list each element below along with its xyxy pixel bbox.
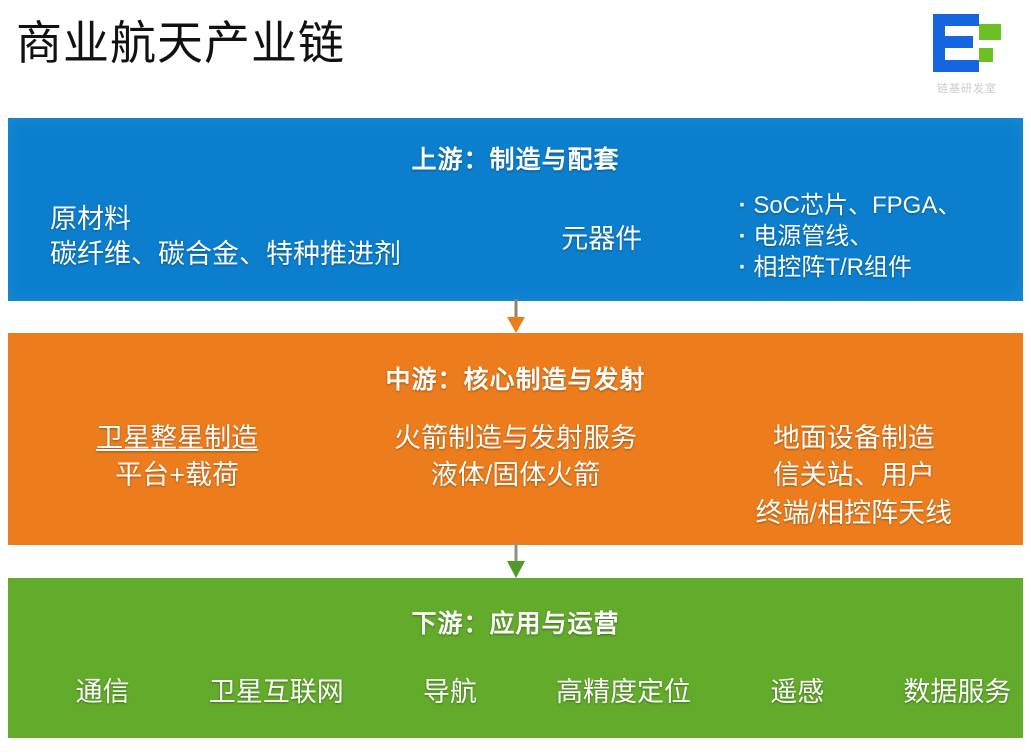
downstream-item-high-precision-positioning: 高精度定位	[556, 670, 691, 709]
logo-caption: 链基研发室	[921, 80, 1013, 96]
midstream-column-satellite: 卫星整星制造 平台+载荷	[8, 420, 346, 495]
band-downstream: 下游：应用与运营 通信 卫星互联网 导航 高精度定位 遥感 数据服务	[8, 578, 1023, 738]
downstream-item-communication: 通信	[76, 670, 130, 709]
band-upstream: 上游：制造与配套 原材料 碳纤维、碳合金、特种推进剂 元器件 SoC芯片、FPG…	[8, 118, 1023, 301]
down-arrow-icon	[501, 299, 531, 335]
upstream-column-components: 元器件	[475, 217, 729, 256]
band-upstream-title: 上游：制造与配套	[8, 140, 1023, 176]
band-downstream-title: 下游：应用与运营	[8, 604, 1023, 640]
midstream-satellite-line-1: 平台+载荷	[14, 457, 340, 494]
upstream-column-materials: 原材料 碳纤维、碳合金、特种推进剂	[8, 202, 475, 271]
upstream-materials-heading: 原材料	[50, 202, 475, 237]
downstream-item-satellite-internet: 卫星互联网	[209, 670, 344, 709]
midstream-satellite-heading: 卫星整星制造	[14, 420, 340, 457]
downstream-item-data-service: 数据服务	[903, 670, 1011, 709]
page-header: 商业航天产业链 链基研发室	[0, 0, 1031, 118]
midstream-ground-line-2: 终端/相控阵天线	[691, 495, 1017, 532]
down-arrow-icon	[501, 543, 531, 580]
band-midstream: 中游：核心制造与发射 卫星整星制造 平台+载荷 火箭制造与发射服务 液体/固体火…	[8, 333, 1023, 545]
page-title: 商业航天产业链	[16, 19, 345, 67]
midstream-rocket-line-1: 液体/固体火箭	[352, 457, 678, 494]
midstream-column-rocket: 火箭制造与发射服务 液体/固体火箭	[346, 420, 684, 495]
arrow-midstream-to-downstream	[0, 543, 1031, 580]
band-midstream-columns: 卫星整星制造 平台+载荷 火箭制造与发射服务 液体/固体火箭 地面设备制造 信关…	[8, 420, 1023, 532]
arrow-upstream-to-midstream	[0, 299, 1031, 335]
logo-mark-icon	[915, 8, 1019, 82]
upstream-chips-bullet-2: 电源管线、	[739, 221, 1023, 252]
upstream-column-chips: SoC芯片、FPGA、 电源管线、 相控阵T/R组件	[729, 190, 1023, 284]
midstream-column-ground: 地面设备制造 信关站、用户 终端/相控阵天线	[685, 420, 1023, 532]
midstream-ground-line-1: 信关站、用户	[691, 457, 1017, 494]
brand-logo: 链基研发室	[915, 8, 1019, 104]
midstream-ground-heading: 地面设备制造	[691, 420, 1017, 457]
band-upstream-columns: 原材料 碳纤维、碳合金、特种推进剂 元器件 SoC芯片、FPGA、 电源管线、 …	[8, 190, 1023, 284]
upstream-components-heading: 元器件	[475, 217, 729, 256]
downstream-item-navigation: 导航	[423, 670, 477, 709]
upstream-chips-bullet-3: 相控阵T/R组件	[739, 252, 1023, 283]
downstream-item-remote-sensing: 遥感	[770, 670, 824, 709]
upstream-chips-bullet-1: SoC芯片、FPGA、	[739, 190, 1023, 221]
band-downstream-columns: 通信 卫星互联网 导航 高精度定位 遥感 数据服务	[8, 670, 1031, 709]
upstream-materials-detail: 碳纤维、碳合金、特种推进剂	[50, 237, 475, 272]
midstream-rocket-heading: 火箭制造与发射服务	[352, 420, 678, 457]
band-midstream-title: 中游：核心制造与发射	[8, 360, 1023, 396]
